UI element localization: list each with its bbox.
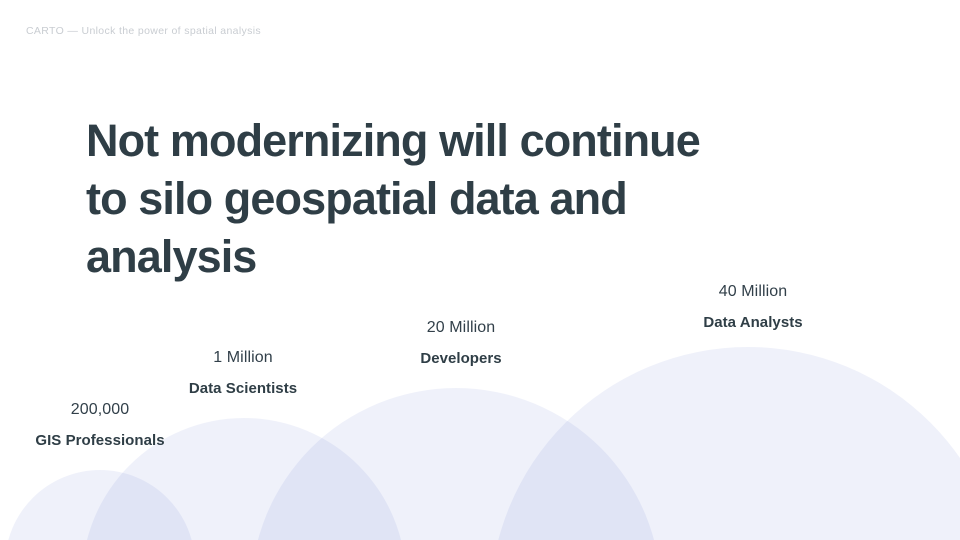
headline-line-2: to silo geospatial data and [86, 170, 886, 228]
stat-value: 200,000 [0, 400, 200, 420]
page-title: Not modernizing will continue to silo ge… [86, 112, 886, 286]
stat-data-scientists: 1 Million Data Scientists [153, 348, 333, 399]
stat-label: Developers [371, 349, 551, 369]
slide-canvas: CARTO — Unlock the power of spatial anal… [0, 0, 960, 540]
slide-kicker: CARTO — Unlock the power of spatial anal… [26, 25, 261, 37]
stat-developers: 20 Million Developers [371, 318, 551, 369]
stat-value: 20 Million [371, 318, 551, 338]
headline-line-1: Not modernizing will continue [86, 112, 886, 170]
stat-value: 40 Million [663, 282, 843, 302]
headline-line-3: analysis [86, 228, 886, 286]
stat-label: GIS Professionals [0, 431, 200, 451]
stat-value: 1 Million [153, 348, 333, 368]
stat-label: Data Analysts [663, 313, 843, 333]
bubble-data-analysts [490, 347, 960, 540]
stat-label: Data Scientists [153, 379, 333, 399]
stat-gis-professionals: 200,000 GIS Professionals [0, 400, 200, 451]
stat-data-analysts: 40 Million Data Analysts [663, 282, 843, 333]
